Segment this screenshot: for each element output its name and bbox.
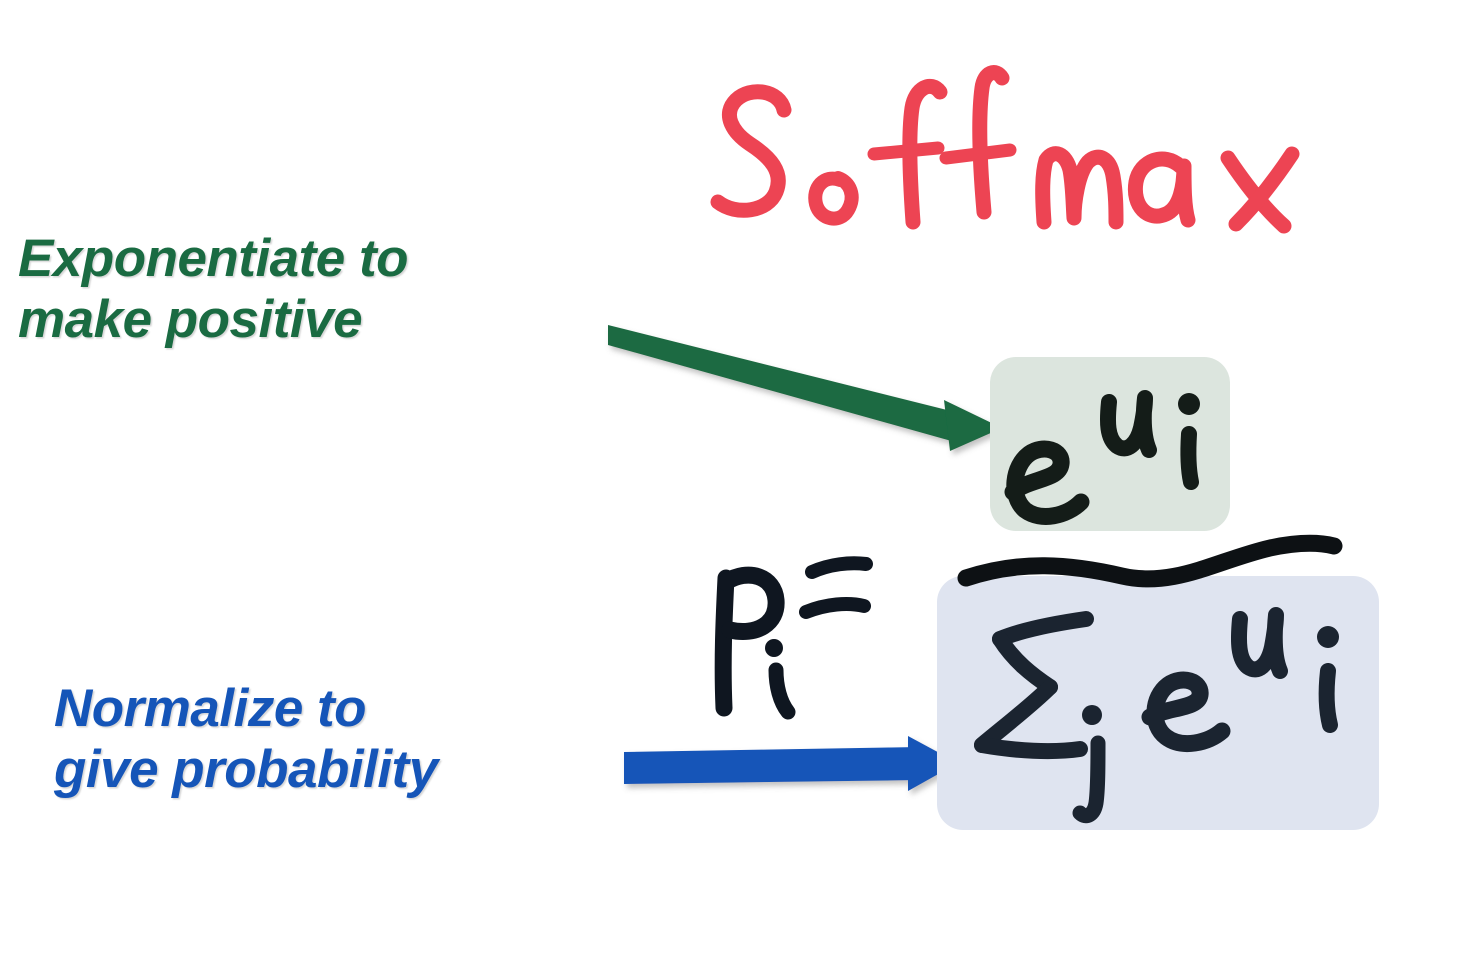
formula-denominator: Σ_j e^{u_i} bbox=[940, 575, 1390, 835]
softmax-formula: p_i = e^{u_i} / Σ_j e^{u_i} p_i = bbox=[0, 0, 1462, 968]
formula-text: p_i = e^{u_i} / Σ_j e^{u_i} bbox=[0, 0, 1, 1]
softmax-slide: Softmax Expone bbox=[0, 0, 1462, 968]
formula-lhs-pi: p_i = bbox=[700, 556, 900, 736]
formula-numerator: e^{u_i} bbox=[985, 350, 1245, 540]
